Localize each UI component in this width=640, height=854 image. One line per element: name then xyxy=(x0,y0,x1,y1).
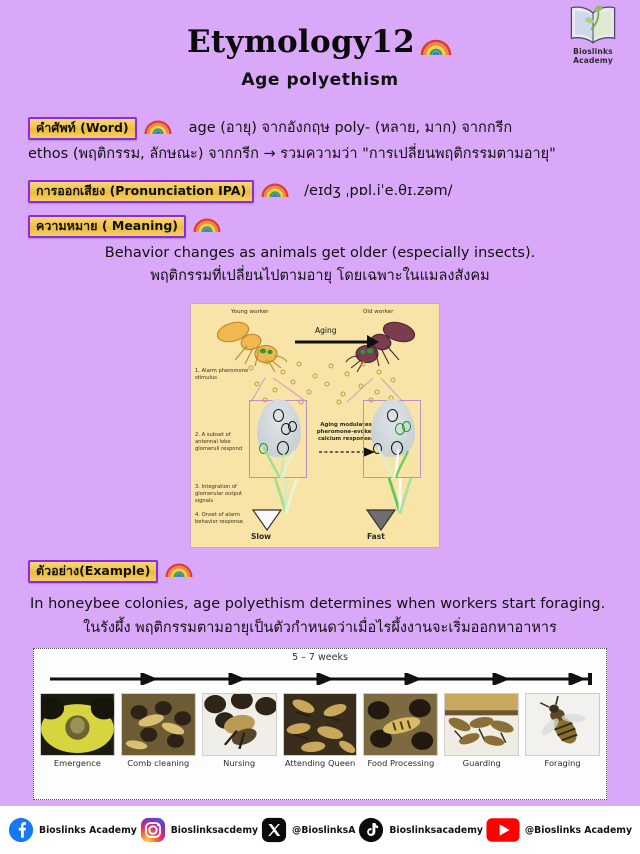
social-account-facebook[interactable]: Bioslinks Academy xyxy=(8,817,137,843)
timeline-stage-caption: Attending Queen xyxy=(285,759,355,769)
facebook-icon[interactable] xyxy=(8,817,34,843)
meaning-section: ความหมาย ( Meaning) xyxy=(28,215,222,238)
social-handle: @Bioslinks Academy xyxy=(525,825,632,836)
social-handle: Bioslinksacdemy xyxy=(171,825,258,836)
social-handle: @BioslinksA xyxy=(292,825,355,836)
page-title-text: Etymology12 xyxy=(187,24,415,60)
nurse-bee-photo xyxy=(202,693,277,756)
youtube-icon[interactable] xyxy=(486,817,520,843)
meaning-text-en: Behavior changes as animals get older (e… xyxy=(0,243,640,264)
pronunciation-badge: การออกเสียง (Pronunciation IPA) xyxy=(28,180,254,203)
aging-arrow-label: Aging xyxy=(315,326,337,335)
example-text-en: In honeybee colonies, age polyethism det… xyxy=(30,594,610,615)
outcome-label-slow: Slow xyxy=(251,532,271,541)
ipa-transcription: /eɪdʒ ˌpɒl.iˈe.θɪ.zəm/ xyxy=(304,181,452,202)
instagram-icon[interactable] xyxy=(140,817,166,843)
diagram-label-young-worker: Young worker xyxy=(231,309,269,315)
timeline-stage[interactable]: Emergence xyxy=(40,693,115,769)
timeline-stage[interactable]: Food Processing xyxy=(363,693,438,769)
timeline-stage-caption: Emergence xyxy=(54,759,101,769)
fast-triangle-outline xyxy=(366,509,396,531)
timeline-stage-caption: Comb cleaning xyxy=(127,759,189,769)
example-section: ตัวอย่าง(Example) xyxy=(28,560,194,583)
rainbow-icon xyxy=(192,215,222,237)
social-media-footer: Bioslinks Academy Bioslinksacdemy @Biosl… xyxy=(0,806,640,854)
timeline-stage-caption: Guarding xyxy=(463,759,501,769)
rainbow-icon xyxy=(260,180,290,202)
pronunciation-section: การออกเสียง (Pronunciation IPA) /eɪdʒ ˌp… xyxy=(28,180,453,203)
example-badge: ตัวอย่าง(Example) xyxy=(28,560,158,583)
word-badge: คำศัพท์ (Word) xyxy=(28,117,137,140)
meaning-text-th: พฤติกรรมที่เปลี่ยนไปตามอายุ โดยเฉพาะในแม… xyxy=(0,266,640,287)
timeline-stage[interactable]: Guarding xyxy=(444,693,519,769)
social-account-instagram[interactable]: Bioslinksacdemy xyxy=(140,817,258,843)
timeline-stage-caption: Food Processing xyxy=(367,759,434,769)
output-signal-traces xyxy=(368,445,420,479)
glomerulus-ring xyxy=(288,421,297,432)
tiktok-icon[interactable] xyxy=(358,817,384,843)
output-signal-traces xyxy=(254,445,306,479)
word-origin-line-1: age (อายุ) จากอังกฤษ poly- (หลาย, มาก) จ… xyxy=(189,118,513,139)
page-subtitle: Age polyethism xyxy=(0,70,640,90)
social-account-x[interactable]: @BioslinksA xyxy=(261,817,355,843)
timeline-stage[interactable]: Foraging xyxy=(525,693,600,769)
bee-emerging-from-cell-photo xyxy=(40,693,115,756)
x-twitter-icon[interactable] xyxy=(261,817,287,843)
glomerulus-ring-active xyxy=(402,421,411,432)
timeline-stage-list: Emergence Comb cleaning xyxy=(40,693,600,769)
age-polyethism-diagram: Young worker Old worker xyxy=(190,303,440,548)
example-text-th: ในรังผึ้ง พฤติกรรมตามอายุเป็นตัวกำหนดว่า… xyxy=(0,618,640,639)
rainbow-icon xyxy=(419,28,453,64)
timeline-stage-caption: Nursing xyxy=(223,759,255,769)
diagram-step-3: 3. Integration of glomerular output sign… xyxy=(195,484,253,505)
bee-processing-food-photo xyxy=(363,693,438,756)
page-title: Etymology12 xyxy=(0,0,640,64)
honeybee-task-timeline: 5 – 7 weeks xyxy=(33,648,607,800)
slow-triangle-outline xyxy=(252,509,282,531)
infographic-page: Bioslinks Academy Etymology12 Age polyet… xyxy=(0,0,640,854)
timeline-stage[interactable]: Attending Queen xyxy=(283,693,358,769)
bees-cleaning-comb-photo xyxy=(121,693,196,756)
guard-bees-at-entrance-photo xyxy=(444,693,519,756)
meaning-badge: ความหมาย ( Meaning) xyxy=(28,215,186,238)
social-handle: Bioslinksacademy xyxy=(389,825,483,836)
timeline-stage[interactable]: Comb cleaning xyxy=(121,693,196,769)
open-book-icon xyxy=(566,2,620,46)
brand-logo: Bioslinks Academy xyxy=(554,2,632,65)
aging-arrow-icon xyxy=(295,330,379,348)
young-worker-glomeruli-inset xyxy=(249,400,307,478)
brand-logo-caption: Bioslinks Academy xyxy=(554,47,632,65)
timeline-stage[interactable]: Nursing xyxy=(202,693,277,769)
word-origin-line-2: ethos (พฤติกรรม, ลักษณะ) จากกรีก → รวมคว… xyxy=(28,144,556,165)
word-section: คำศัพท์ (Word) age (อายุ) จากอังกฤษ poly… xyxy=(28,117,556,165)
old-worker-glomeruli-inset xyxy=(363,400,421,478)
bees-attending-queen-photo xyxy=(283,693,358,756)
rainbow-icon xyxy=(164,560,194,582)
timeline-axis-arrows xyxy=(50,673,594,685)
timeline-duration-label: 5 – 7 weeks xyxy=(34,652,606,663)
social-account-youtube[interactable]: @Bioslinks Academy xyxy=(486,817,632,843)
social-account-tiktok[interactable]: Bioslinksacademy xyxy=(358,817,483,843)
social-handle: Bioslinks Academy xyxy=(39,825,137,836)
timeline-stage-caption: Foraging xyxy=(545,759,581,769)
glomerulus-ring xyxy=(273,409,284,422)
diagram-step-2: 2. A subset of antennal lobe glomeruli r… xyxy=(195,432,253,453)
glomerulus-ring xyxy=(387,409,398,422)
diagram-label-old-worker: Old worker xyxy=(363,309,393,315)
forager-bee-photo xyxy=(525,693,600,756)
outcome-label-fast: Fast xyxy=(367,532,385,541)
diagram-step-4: 4. Onset of alarm behavior response xyxy=(195,512,253,526)
rainbow-icon xyxy=(143,117,173,139)
